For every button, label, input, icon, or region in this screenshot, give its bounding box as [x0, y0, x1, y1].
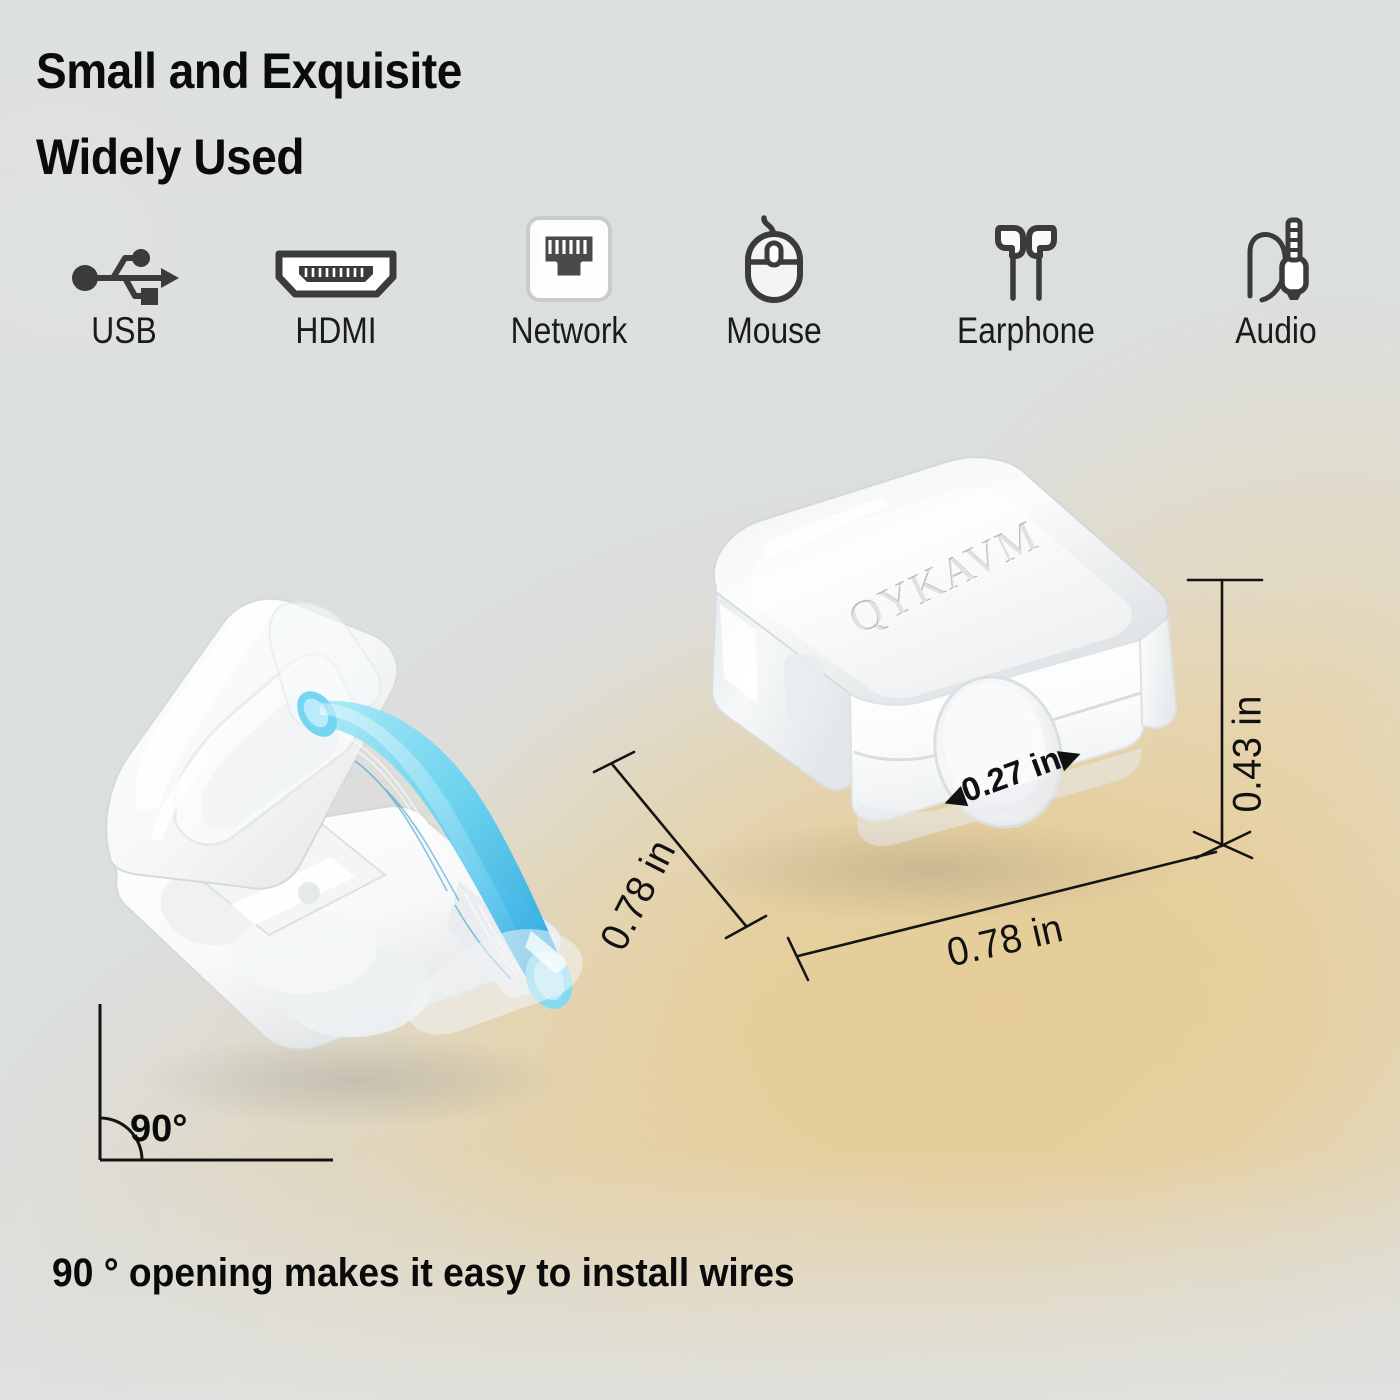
- headline-line-1: Small and Exquisite: [36, 43, 462, 99]
- headline-line-2: Widely Used: [36, 114, 956, 200]
- usb-icon: [46, 212, 202, 304]
- compat-item-earphone: Earphone: [906, 212, 1146, 352]
- angle-90-annotation: [88, 1000, 388, 1180]
- bottom-caption: 90 ° opening makes it easy to install wi…: [52, 1251, 795, 1296]
- hdmi-port-icon: [258, 212, 414, 304]
- compat-item-audio: Audio: [1196, 212, 1356, 352]
- compat-label-usb: USB: [57, 310, 191, 352]
- earbuds-icon: [906, 212, 1146, 304]
- rj45-network-port-icon: [476, 212, 662, 304]
- infographic-canvas: Small and Exquisite Widely Used: [0, 0, 1400, 1400]
- compat-item-network: Network: [476, 212, 662, 352]
- compat-label-audio: Audio: [1207, 310, 1345, 352]
- compat-item-hdmi: HDMI: [258, 212, 414, 352]
- mouse-icon: [690, 212, 858, 304]
- compat-label-earphone: Earphone: [923, 310, 1129, 352]
- compatibility-icon-row: USB HDMI: [46, 212, 1356, 362]
- compat-item-usb: USB: [46, 212, 202, 352]
- dimension-label-height: 0.43 in: [1226, 695, 1271, 812]
- page-title: Small and Exquisite Widely Used: [36, 28, 956, 200]
- compat-label-mouse: Mouse: [702, 310, 846, 352]
- angle-90-label: 90°: [130, 1108, 187, 1151]
- compat-item-mouse: Mouse: [690, 212, 858, 352]
- compat-label-hdmi: HDMI: [269, 310, 403, 352]
- compat-label-network: Network: [489, 310, 649, 352]
- audio-jack-icon: [1196, 212, 1356, 304]
